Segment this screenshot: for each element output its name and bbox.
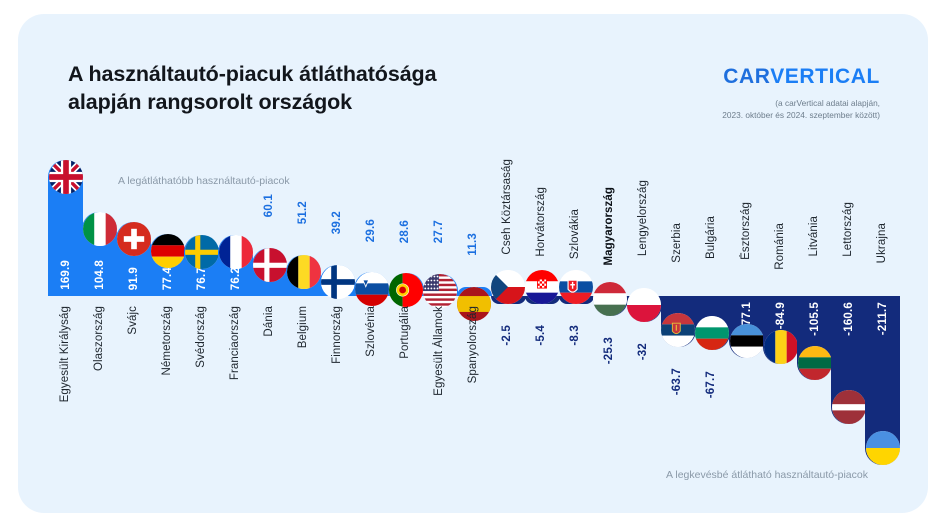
category-label-ua: Ukrajna: [876, 223, 888, 263]
flag-icon-rs: [661, 313, 695, 347]
category-label-bg: Bulgária: [705, 216, 717, 259]
category-label-us: Egyesült Államok: [433, 306, 445, 396]
flag-icon-ee: [730, 324, 764, 358]
bar-value-label: 104.8: [94, 260, 106, 290]
bar-value-label: -5.4: [535, 325, 547, 346]
bar-value-label: 60.1: [263, 194, 275, 217]
category-label-lv: Lettország: [842, 202, 854, 257]
bar-value-label: 51.2: [297, 201, 309, 224]
bar-value-label: -84.9: [775, 302, 787, 329]
bar-value-label: -8.3: [569, 325, 581, 346]
flag-icon-lt: [798, 346, 832, 380]
flag-icon-de: [151, 234, 185, 268]
flag-icon-hr: [525, 270, 559, 304]
bar-value-label: 169.9: [60, 260, 72, 290]
bar-value-label: -32: [637, 343, 649, 360]
bar-value-label: 76.2: [230, 267, 242, 290]
chart-root: A használtautó-piacuk átláthatósága alap…: [0, 0, 946, 532]
category-label-gb: Egyesült Királyság: [59, 306, 71, 402]
category-label-lt: Litvánia: [808, 216, 820, 256]
flag-icon-cz: [491, 270, 525, 304]
flag-icon-ch: [117, 222, 151, 256]
category-label-cz: Cseh Köztársaság: [501, 159, 513, 255]
flag-icon-it: [83, 212, 117, 246]
flag-icon-fr: [219, 235, 253, 269]
flag-icon-dk: [253, 248, 287, 282]
category-label-fi: Finnország: [331, 306, 343, 364]
flag-icon-hu: [593, 282, 627, 316]
category-label-de: Németország: [161, 306, 173, 376]
bar-value-label: 29.6: [365, 219, 377, 242]
category-label-it: Olaszország: [93, 306, 105, 371]
category-label-dk: Dánia: [263, 306, 275, 337]
flag-icon-se: [185, 235, 219, 269]
flag-icon-ua: [866, 431, 900, 465]
category-label-es: Spanyolország: [467, 306, 479, 383]
flag-icon-si: [355, 272, 389, 306]
category-label-rs: Szerbia: [671, 223, 683, 263]
bar-value-label: 27.7: [433, 220, 445, 243]
flag-icon-ro: [764, 330, 798, 364]
bar-value-label: 76.7: [196, 267, 208, 290]
bar-value-label: -25.3: [603, 337, 615, 364]
flag-icon-sk: [559, 270, 593, 304]
flag-icon-bg: [695, 316, 729, 350]
flag-icon-gb: [49, 160, 83, 194]
bar-value-label: 91.9: [128, 267, 140, 290]
bar-value-label: -105.5: [809, 302, 821, 336]
flag-icon-be: [287, 255, 321, 289]
bar-value-label: 28.6: [399, 220, 411, 243]
category-label-ro: Románia: [774, 223, 786, 270]
chart-panel: A használtautó-piacuk átláthatósága alap…: [18, 14, 928, 513]
category-label-ch: Svájc: [127, 306, 139, 335]
category-label-pl: Lengyelország: [637, 180, 649, 256]
bar-plot-area: 169.9Egyesült Királyság104.8Olaszország9…: [18, 14, 928, 513]
bar-value-label: 11.3: [467, 233, 479, 256]
flag-icon-fi: [321, 265, 355, 299]
bar-value-label: 77.4: [162, 267, 174, 290]
bar-value-label: -211.7: [877, 302, 889, 335]
category-label-hr: Horvátország: [535, 187, 547, 257]
category-label-se: Svédország: [195, 306, 207, 368]
category-label-ee: Észtország: [740, 202, 752, 260]
flag-icon-pl: [627, 288, 661, 322]
bar-value-label: -2.5: [501, 325, 513, 346]
bar-value-label: 39.2: [331, 211, 343, 234]
category-label-si: Szlovénia: [365, 306, 377, 357]
bar-value-label: -63.7: [671, 368, 683, 395]
category-label-hu: Magyarország: [603, 187, 615, 266]
bar-value-label: -160.6: [843, 302, 855, 336]
flag-icon-lv: [832, 390, 866, 424]
bar-value-label: -67.7: [705, 371, 717, 398]
flag-icon-us: [423, 274, 457, 308]
category-label-sk: Szlovákia: [569, 209, 581, 259]
flag-icon-pt: [389, 273, 423, 307]
category-label-fr: Franciaország: [229, 306, 241, 380]
category-label-be: Belgium: [297, 306, 309, 348]
category-label-pt: Portugália: [399, 306, 411, 359]
